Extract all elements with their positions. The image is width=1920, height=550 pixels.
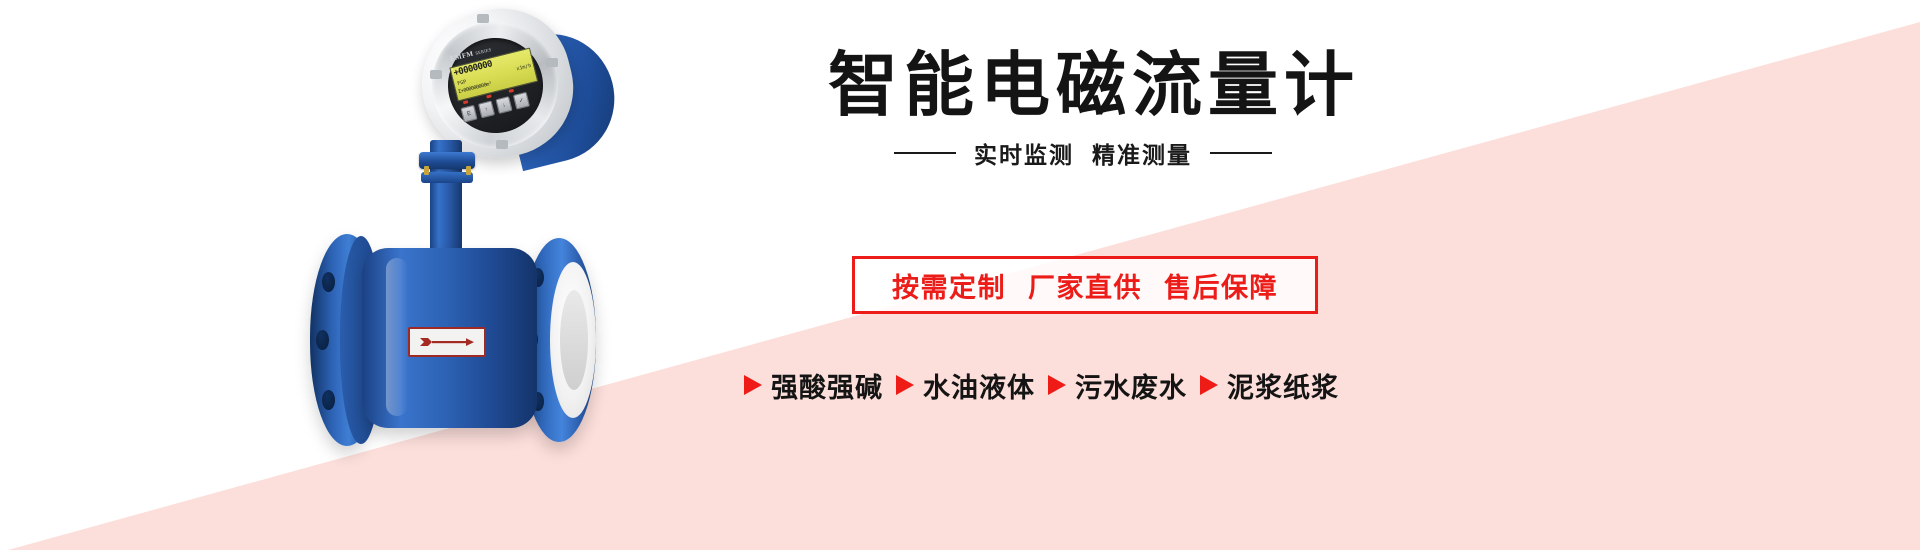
banner-title: 智能电磁流量计	[828, 50, 1360, 120]
feature-item: 水油液体	[896, 366, 1035, 405]
feature-label: 强酸强碱	[771, 366, 883, 405]
triangle-bullet-icon	[1200, 375, 1218, 395]
subtitle-text-left: 实时监测	[974, 142, 1074, 168]
feature-item: 泥浆纸浆	[1200, 366, 1339, 405]
service-item-3: 售后保障	[1164, 273, 1278, 303]
triangle-bullet-icon	[1048, 375, 1066, 395]
application-feature-list: 强酸强碱 水油液体 污水废水 泥浆纸浆	[744, 362, 1339, 408]
banner-subtitle: 实时监测精准测量	[974, 136, 1192, 170]
service-item-1: 按需定制	[892, 273, 1006, 303]
triangle-bullet-icon	[744, 375, 762, 395]
feature-label: 泥浆纸浆	[1227, 366, 1339, 405]
banner-text-column: 智能电磁流量计 实时监测精准测量 按需定制厂家直供售后保障 强酸强碱 水油液体 …	[0, 0, 1920, 550]
feature-item: 污水废水	[1048, 366, 1187, 405]
service-item-2: 厂家直供	[1028, 273, 1142, 303]
feature-label: 污水废水	[1075, 366, 1187, 405]
feature-label: 水油液体	[923, 366, 1035, 405]
service-highlight-text: 按需定制厂家直供售后保障	[892, 266, 1278, 305]
triangle-bullet-icon	[896, 375, 914, 395]
banner-subtitle-row: 实时监测精准测量	[828, 137, 1338, 169]
product-banner: EMFM SERIES +0000000 FGP x1m/h Σ+0000000…	[0, 0, 1920, 550]
subtitle-rule-right	[1210, 152, 1272, 154]
subtitle-rule-left	[894, 152, 956, 154]
subtitle-text-right: 精准测量	[1092, 142, 1192, 168]
feature-item: 强酸强碱	[744, 366, 883, 405]
service-highlight-box: 按需定制厂家直供售后保障	[852, 256, 1318, 314]
